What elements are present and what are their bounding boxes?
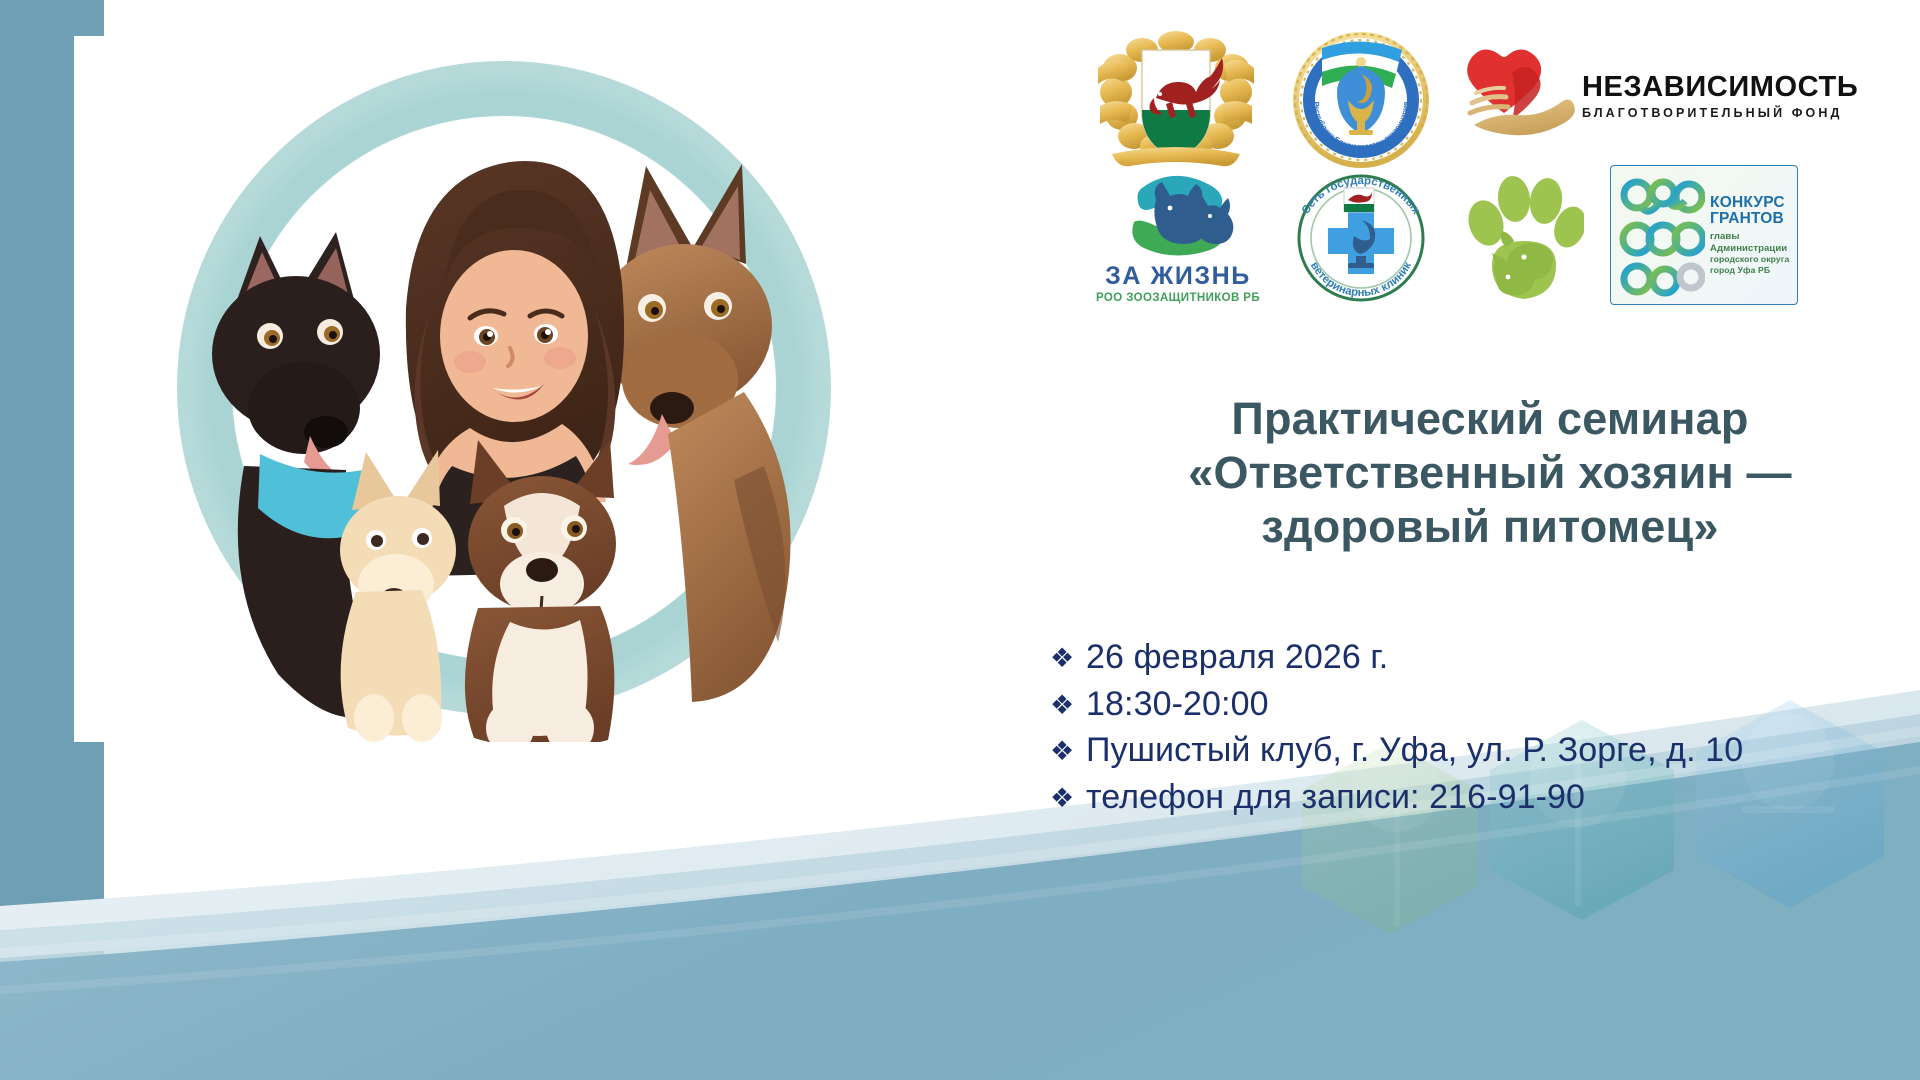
diamond-bullet-icon: ❖ <box>1050 640 1072 677</box>
za-zhizn-logo: ЗА ЖИЗНЬ РОО ЗООЗАЩИТНИКОВ РБ <box>1096 166 1260 305</box>
vet-cross-seal-icon: Сеть государственных ветеринарных клиник <box>1286 162 1436 308</box>
grants-line-2: ГРАНТОВ <box>1710 211 1789 227</box>
heart-in-hand-icon <box>1460 41 1576 153</box>
ufa-coat-of-arms-logo <box>1090 22 1262 172</box>
paw-pets-logo <box>1462 169 1584 301</box>
paw-print-icon <box>1462 169 1584 301</box>
list-item: ❖ 18:30-20:00 <box>1050 681 1920 728</box>
grants-line-1: КОНКУРС <box>1710 195 1789 211</box>
grants-competition-logo: КОНКУРС ГРАНТОВ главы Администрации горо… <box>1610 165 1798 305</box>
detail-phone: телефон для записи: 216-91-90 <box>1086 774 1585 821</box>
event-details-list: ❖ 26 февраля 2026 г. ❖ 18:30-20:00 ❖ Пуш… <box>1050 634 1920 820</box>
detail-venue: Пушистый клуб, г. Уфа, ул. Р. Зорге, д. … <box>1086 727 1743 774</box>
grants-line-5: городского округа <box>1710 255 1789 264</box>
state-vet-clinics-logo: Сеть государственных ветеринарных клиник <box>1286 162 1436 308</box>
za-zhizn-title: ЗА ЖИЗНЬ <box>1105 264 1251 289</box>
poster-root: Республика Башҡортостан ветеринария <box>0 0 1920 1080</box>
ufa-circles-logo-icon <box>1619 173 1705 297</box>
diamond-bullet-icon: ❖ <box>1050 687 1072 724</box>
page-title: Практический семинар «Ответственный хозя… <box>1060 392 1920 554</box>
detail-date: 26 февраля 2026 г. <box>1086 634 1388 681</box>
nezavisimost-subtitle: БЛАГОТВОРИТЕЛЬНЫЙ ФОНД <box>1582 107 1858 121</box>
grants-line-4: Администрации <box>1710 244 1789 254</box>
headline-line-3: здоровый питомец» <box>1060 500 1920 554</box>
list-item: ❖ Пушистый клуб, г. Уфа, ул. Р. Зорге, д… <box>1050 727 1920 774</box>
diamond-bullet-icon: ❖ <box>1050 733 1072 770</box>
grants-line-3: главы <box>1710 232 1789 242</box>
list-item: ❖ телефон для записи: 216-91-90 <box>1050 774 1920 821</box>
diamond-bullet-icon: ❖ <box>1050 780 1072 817</box>
nezavisimost-fund-logo: НЕЗАВИСИМОСТЬ БЛАГОТВОРИТЕЛЬНЫЙ ФОНД <box>1460 41 1858 153</box>
grants-line-6: город Уфа РБ <box>1710 266 1789 275</box>
logo-row-secondary: ЗА ЖИЗНЬ РОО ЗООЗАЩИТНИКОВ РБ Сеть госуд… <box>1096 160 1798 310</box>
nezavisimost-title: НЕЗАВИСИМОСТЬ <box>1582 73 1858 103</box>
list-item: ❖ 26 февраля 2026 г. <box>1050 634 1920 681</box>
headline-line-1: Практический семинар <box>1060 392 1920 446</box>
dog-cat-in-hands-icon <box>1112 166 1244 262</box>
pets-illustration <box>74 36 974 742</box>
detail-time: 18:30-20:00 <box>1086 681 1269 728</box>
za-zhizn-subtitle: РОО ЗООЗАЩИТНИКОВ РБ <box>1096 293 1260 305</box>
logo-row-primary: Республика Башҡортостан ветеринария <box>1090 22 1858 172</box>
headline-line-2: «Ответственный хозяин — <box>1060 446 1920 500</box>
bashkortostan-vet-service-logo: Республика Башҡортостан ветеринария <box>1286 22 1436 172</box>
